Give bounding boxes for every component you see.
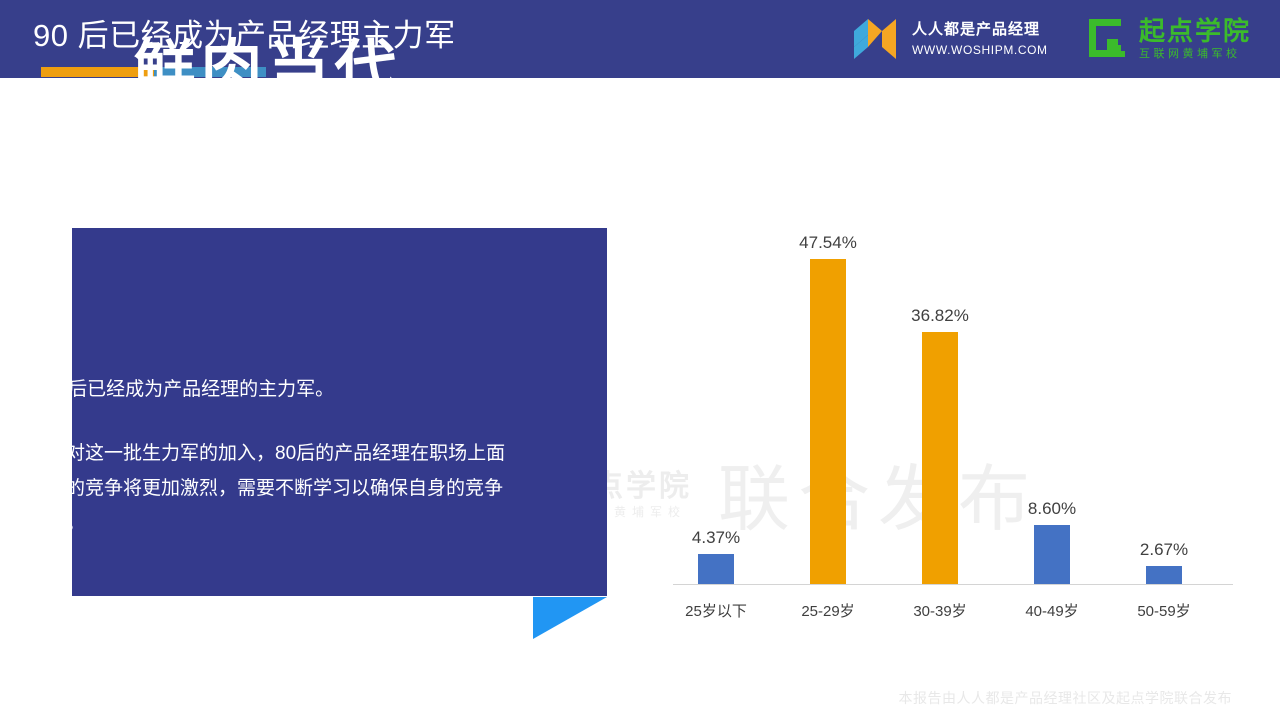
- bar-value-1: 47.54%: [772, 232, 884, 254]
- chart-plot-area: 4.37% 47.54% 36.82% 8.60% 2.67%: [660, 210, 1240, 584]
- bar-4: [1146, 566, 1182, 584]
- bar-group-1: 47.54%: [772, 210, 884, 584]
- qidian-subtitle: 互联网黄埔军校: [1139, 47, 1251, 61]
- age-distribution-bar-chart: 4.37% 47.54% 36.82% 8.60% 2.67% 25岁以下 25…: [660, 210, 1240, 620]
- brand-qidian-academy: 起点学院 互联网黄埔军校: [1081, 8, 1251, 68]
- woshipm-text-block: 人人都是产品经理 WWW.WOSHIPM.COM: [912, 20, 1048, 58]
- info-card-heading: 鲜肉当代: [0, 33, 535, 107]
- category-label-1: 25-29岁: [772, 602, 884, 622]
- bar-value-0: 4.37%: [660, 527, 772, 549]
- brand-woshipm: 人人都是产品经理 WWW.WOSHIPM.COM: [852, 11, 1048, 66]
- bar-group-0: 4.37%: [660, 210, 772, 584]
- info-card-arrow-decoration: [533, 597, 607, 639]
- woshipm-logo-icon: [852, 15, 902, 63]
- bar-0: [698, 554, 734, 584]
- bar-value-2: 36.82%: [884, 305, 996, 327]
- bar-value-3: 8.60%: [996, 498, 1108, 520]
- bar-group-3: 8.60%: [996, 210, 1108, 584]
- category-label-4: 50-59岁: [1108, 602, 1220, 622]
- qidian-name: 起点学院: [1139, 16, 1251, 46]
- qidian-text-block: 起点学院 互联网黄埔军校: [1139, 16, 1251, 61]
- category-label-3: 40-49岁: [996, 602, 1108, 622]
- woshipm-url: WWW.WOSHIPM.COM: [912, 42, 1048, 58]
- footer-note: 本报告由人人都是产品经理社区及起点学院联合发布: [899, 688, 1233, 708]
- bar-group-2: 36.82%: [884, 210, 996, 584]
- category-label-0: 25岁以下: [660, 602, 772, 622]
- bar-group-4: 2.67%: [1108, 210, 1220, 584]
- bar-2: [922, 332, 958, 584]
- qidian-academy-logo-icon: [1081, 13, 1131, 63]
- woshipm-name: 人人都是产品经理: [912, 20, 1048, 40]
- bar-3: [1034, 525, 1070, 584]
- info-card-paragraph-2: 面对这一批生力军的加入，80后的产品经理在职场上面临的竞争将更加激烈，需要不断学…: [47, 436, 507, 541]
- category-label-2: 30-39岁: [884, 602, 996, 622]
- bar-value-4: 2.67%: [1108, 539, 1220, 561]
- bar-1: [810, 259, 846, 584]
- chart-x-axis-line: [673, 584, 1233, 585]
- info-card-paragraph-1: 90后已经成为产品经理的主力军。: [47, 375, 507, 405]
